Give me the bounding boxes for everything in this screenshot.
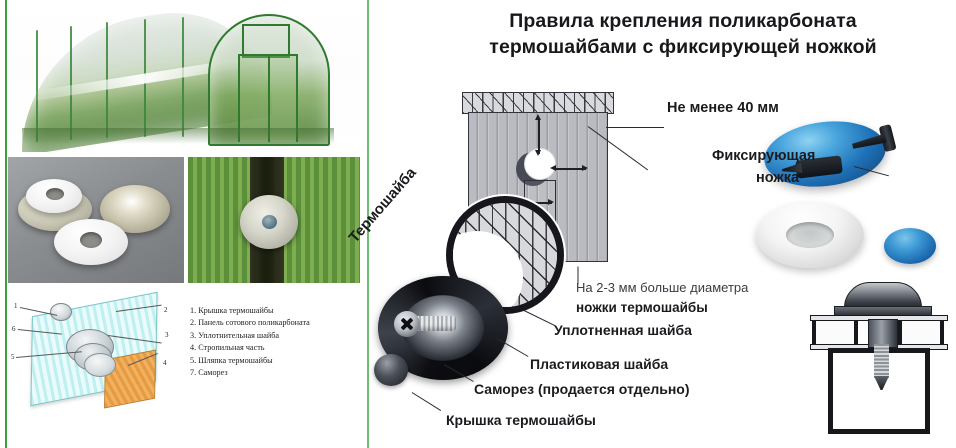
thermal-washers-photo xyxy=(8,157,184,283)
annotation-hole-diameter-line2: ножки термошайбы xyxy=(576,300,708,316)
legend-item: 2. Панель сотового поликарбоната xyxy=(190,317,362,329)
legend-item: 7. Саморез xyxy=(190,367,362,379)
installed-washer-photo xyxy=(188,157,360,283)
title-line-1: Правила крепления поликарбоната xyxy=(414,8,952,34)
annotation-self-tapping-screw: Саморез (продается отдельно) xyxy=(474,381,690,397)
annotation-sealing-washer: Уплотненная шайба xyxy=(554,322,692,338)
iso-callout-4: 4 xyxy=(163,359,167,367)
leader-hole-diameter xyxy=(578,267,579,285)
annotation-fixing-leg-line1: Фиксирующая xyxy=(712,148,815,165)
parts-legend: 1. Крышка термошайбы 2. Панель сотового … xyxy=(190,305,362,380)
leader-min-40mm-h xyxy=(606,127,664,128)
edge-distance-arrow xyxy=(538,118,540,154)
annotation-fixing-leg-line2: ножка xyxy=(756,170,799,187)
iso-callout-2: 2 xyxy=(164,306,168,314)
legend-item: 3. Уплотнительная шайба xyxy=(190,330,362,342)
page-title: Правила крепления поликарбоната термошай… xyxy=(414,8,952,60)
iso-callout-5: 5 xyxy=(11,353,15,361)
greenhouse-photo xyxy=(8,6,360,152)
annotation-hole-diameter-line1: На 2-3 мм больше диаметра xyxy=(576,281,748,296)
iso-callout-1: 1 xyxy=(14,302,18,310)
title-line-2: термошайбами с фиксирующей ножкой xyxy=(414,34,952,60)
thermal-washer-assembly xyxy=(372,272,514,392)
annotation-washer-cap: Крышка термошайбы xyxy=(446,412,596,428)
leader-washer-cap xyxy=(412,392,441,411)
legend-item: 4. Стропильная часть xyxy=(190,342,362,354)
iso-callout-3: 3 xyxy=(165,331,169,339)
washer-cap-part xyxy=(374,354,408,386)
annotation-plastic-washer: Пластиковая шайба xyxy=(530,356,668,372)
left-green-border xyxy=(5,0,7,448)
blue-cap-photo xyxy=(884,228,936,264)
annotation-min-40mm: Не менее 40 мм xyxy=(667,100,779,117)
legend-item: 5. Шляпка термошайбы xyxy=(190,355,362,367)
infographic-root: 1 2 6 3 5 4 1. Крышка термошайбы 2. Пане… xyxy=(0,0,956,448)
iso-callout-6: 6 xyxy=(12,325,16,333)
foam-sealing-ring-photo xyxy=(756,202,864,268)
legend-item: 1. Крышка термошайбы xyxy=(190,305,362,317)
cross-section-drawing xyxy=(806,282,952,440)
leader-sealing-washer xyxy=(524,310,557,327)
isometric-assembly-drawing: 1 2 6 3 5 4 xyxy=(8,287,184,415)
screw-cross-head-icon xyxy=(400,317,414,331)
